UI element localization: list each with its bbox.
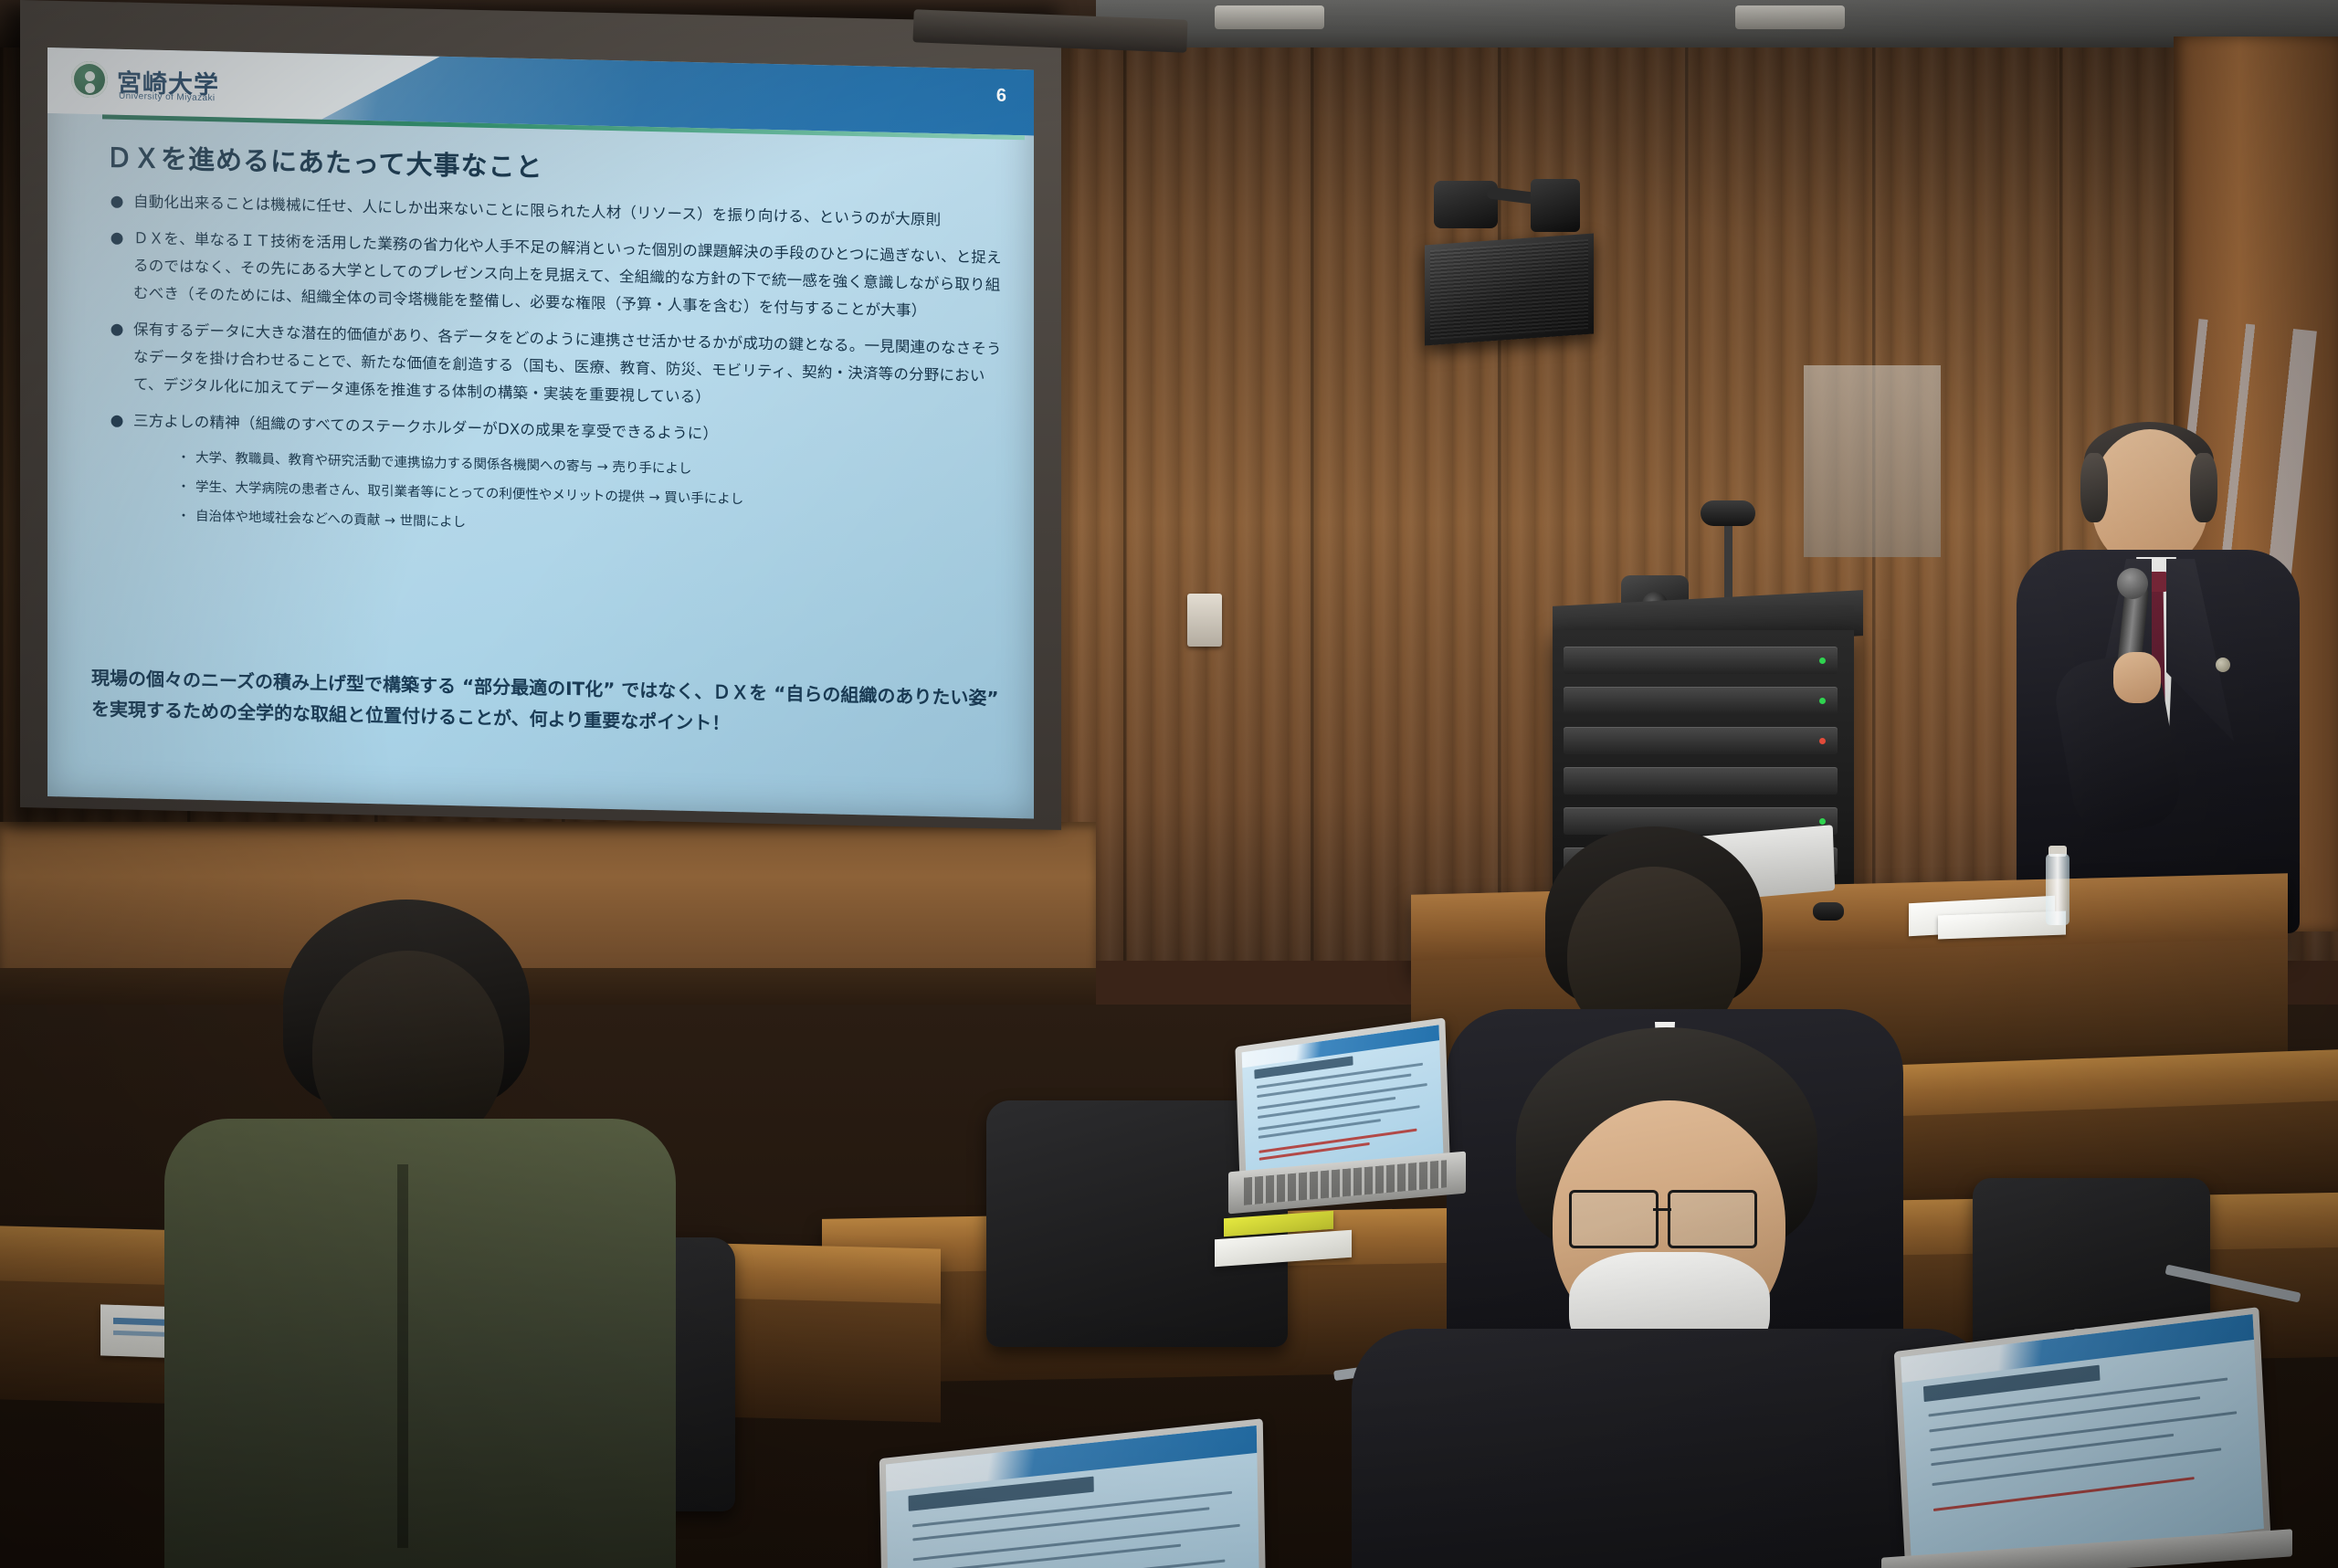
bullet-item: ● ＤＸを、単なるＩＴ技術を活用した業務の省力化や人手不足の解消といった個別の課… xyxy=(100,224,1005,326)
bullet-text: ＤＸを、単なるＩＴ技術を活用した業務の省力化や人手不足の解消といった個別の課題解… xyxy=(133,225,1005,327)
rack-unit xyxy=(1564,767,1838,795)
rack-status-led xyxy=(1819,818,1826,825)
rack-status-led xyxy=(1819,658,1826,664)
rack-status-led xyxy=(1819,738,1826,744)
attendee-foreground xyxy=(1452,1027,1909,1568)
bullet-dot-icon: ● xyxy=(100,224,133,307)
bullet-dot-icon: ● xyxy=(100,187,133,216)
sub-bullet-text: 自治体や地域社会などへの貢献 → 世間によし xyxy=(195,504,466,536)
laptop-foreground-right xyxy=(1894,1307,2271,1568)
slide-title: ＤＸを進めるにあたって大事なこと xyxy=(106,136,543,184)
presenter xyxy=(2037,429,2329,941)
laptop-screen-content xyxy=(1901,1314,2264,1568)
speaker-grille xyxy=(1430,239,1588,340)
glasses-bridge xyxy=(1653,1208,1671,1211)
lecture-room-photo: 宮崎大学 University of Miyazaki 6 ＤＸを進めるにあたっ… xyxy=(0,0,2338,1568)
sub-bullet-dot-icon: ・ xyxy=(172,503,195,530)
attendee-front-left xyxy=(228,900,621,1566)
bullet-dot-icon: ● xyxy=(100,406,133,435)
glasses-lens-left xyxy=(1569,1190,1659,1248)
rack-status-led xyxy=(1819,698,1826,704)
bullet-text: 三方よしの精神（組織のすべてのステークホルダーがDXの成果を享受できるように） xyxy=(133,407,718,448)
ceiling-light xyxy=(1735,5,1845,29)
wall-plate xyxy=(1187,594,1222,647)
rack-unit xyxy=(1564,727,1838,754)
rack-unit xyxy=(1564,687,1838,714)
university-name-en: University of Miyazaki xyxy=(119,91,216,103)
bullet-dot-icon: ● xyxy=(100,315,133,398)
bullet-item: ● 保有するデータに大きな潜在的価値があり、各データをどのように連携させ活かせる… xyxy=(100,315,1005,417)
sub-bullet-dot-icon: ・ xyxy=(172,445,195,471)
glasses-lens-right xyxy=(1668,1190,1757,1248)
university-logo-icon xyxy=(71,61,108,99)
sub-bullet-dot-icon: ・ xyxy=(172,474,195,500)
wall-speaker xyxy=(1425,234,1594,346)
slide-bullet-list: ● 自動化出来ることは機械に任せ、人にしか出来ないことに限られた人材（リソース）… xyxy=(100,187,1005,551)
slide-sub-bullet-list: ・ 大学、教職員、教育や研究活動で連携協力する関係各機関への寄与 → 売り手によ… xyxy=(172,445,1005,548)
camera-body xyxy=(1531,179,1580,232)
document-camera-head xyxy=(1701,500,1755,526)
jacket-seam xyxy=(397,1164,408,1548)
lapel-pin-icon xyxy=(2216,658,2230,672)
ceiling-light xyxy=(1215,5,1324,29)
bullet-text: 保有するデータに大きな潜在的価値があり、各データをどのように連携させ活かせるかが… xyxy=(133,316,1005,418)
presenter-hand xyxy=(2113,652,2161,703)
attendee-jacket xyxy=(164,1119,676,1568)
presentation-slide: 宮崎大学 University of Miyazaki 6 ＤＸを進めるにあたっ… xyxy=(47,47,1034,819)
rack-unit xyxy=(1564,647,1838,674)
presenter-hair-side xyxy=(2190,453,2217,522)
water-bottle xyxy=(2046,854,2069,925)
slide-page-number: 6 xyxy=(996,86,1006,107)
presenter-hair-side xyxy=(2080,453,2108,522)
slide-conclusion-text: 現場の個々のニーズの積み上げ型で構築する “部分最適のIT化” ではなく、ＤＸを… xyxy=(91,662,1014,745)
whiteboard-panel xyxy=(1804,365,1941,557)
